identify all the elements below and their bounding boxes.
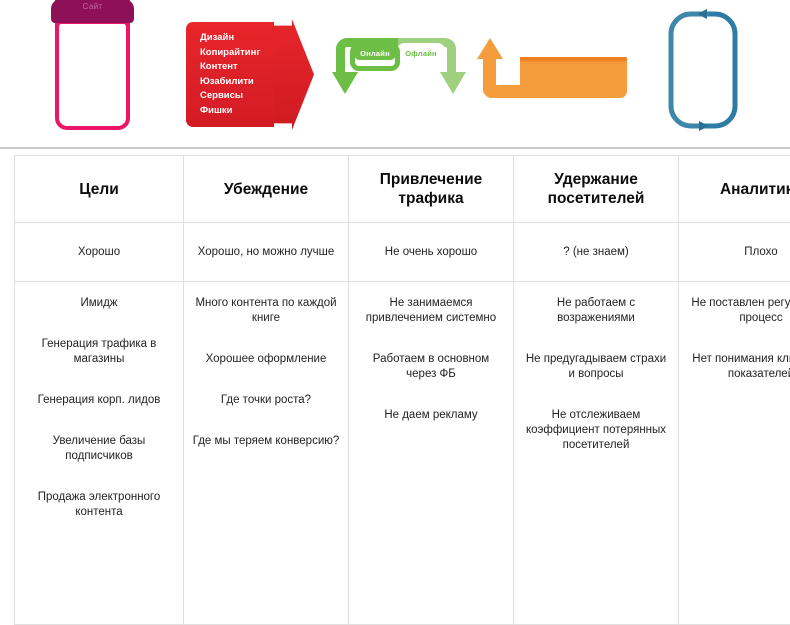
- conversion-bar: [520, 57, 627, 98]
- column-header-persuasion: Убеждение: [184, 156, 349, 223]
- detail-item: Увеличение базы подписчиков: [23, 434, 175, 464]
- table-row-details: Имидж Генерация трафика в магазины Генер…: [15, 282, 790, 625]
- summary-cell-persuasion: Хорошо, но можно лучше: [184, 223, 349, 282]
- retention-cycle-loop-icon: [667, 8, 739, 132]
- channel-arrow-down-right-icon: [440, 72, 466, 94]
- summary-cell-goals: Хорошо: [15, 223, 184, 282]
- summary-cell-analytics: Плохо: [679, 223, 790, 282]
- audit-matrix-table: Цели Убеждение Привлечение трафика Удерж…: [14, 155, 790, 625]
- detail-item: Генерация корп. лидов: [23, 393, 175, 408]
- detail-item: Не поставлен регулярный процесс: [687, 296, 790, 326]
- column-header-traffic: Привлечение трафика: [349, 156, 514, 223]
- detail-item: Работаем в основном через ФБ: [357, 352, 505, 382]
- detail-item: Не предугадываем страхи и вопросы: [522, 352, 670, 382]
- table-row-summary: Хорошо Хорошо, но можно лучше Не очень х…: [15, 223, 790, 282]
- service-item: Дизайн: [200, 31, 290, 46]
- details-cell-persuasion: Много контента по каждой книге Хорошее о…: [184, 282, 349, 625]
- detail-item: Не работаем с возражениями: [522, 296, 670, 326]
- detail-item: Не занимаемся привлечением системно: [357, 296, 505, 326]
- column-header-retention: Удержание посетителей: [514, 156, 679, 223]
- details-cell-goals: Имидж Генерация трафика в магазины Генер…: [15, 282, 184, 625]
- column-header-analytics: Аналитика: [679, 156, 790, 223]
- conversion-arrow-stem: [483, 57, 531, 98]
- column-header-goals: Цели: [15, 156, 184, 223]
- section-divider: [0, 147, 790, 149]
- detail-item: Имидж: [23, 296, 175, 311]
- detail-item: Где мы теряем конверсию?: [192, 434, 340, 449]
- detail-item: Продажа электронного контента: [23, 490, 175, 520]
- service-item: Копирайтинг: [200, 46, 290, 61]
- detail-item: Хорошее оформление: [192, 352, 340, 367]
- conversion-arrow-up-icon: [477, 38, 503, 59]
- services-list: Дизайн Копирайтинг Контент Юзабилити Сер…: [200, 31, 290, 118]
- summary-cell-traffic: Не очень хорошо: [349, 223, 514, 282]
- detail-item: Много контента по каждой книге: [192, 296, 340, 326]
- details-cell-traffic: Не занимаемся привлечением системно Рабо…: [349, 282, 514, 625]
- conversion-bar-highlight: [520, 57, 627, 61]
- details-cell-analytics: Не поставлен регулярный процесс Нет пони…: [679, 282, 790, 625]
- services-arrow: Дизайн Копирайтинг Контент Юзабилити Сер…: [186, 22, 314, 127]
- conversion-arrow-group: [483, 38, 628, 98]
- site-device-label: Сайт: [83, 2, 103, 11]
- detail-item: Нет понимания ключевых показателей: [687, 352, 790, 382]
- service-item: Сервисы: [200, 89, 290, 104]
- site-device-header: Сайт: [51, 0, 134, 23]
- service-item: Юзабилити: [200, 75, 290, 90]
- channel-offline-label: Офлайн: [400, 47, 442, 60]
- channels-group: Онлайн Офлайн: [326, 38, 466, 100]
- summary-cell-retention: ? (не знаем): [514, 223, 679, 282]
- table-header-row: Цели Убеждение Привлечение трафика Удерж…: [15, 156, 790, 223]
- detail-item: Не отслеживаем коэффициент потерянных по…: [522, 408, 670, 453]
- channel-arrow-down-left-icon: [332, 72, 358, 94]
- service-item: Контент: [200, 60, 290, 75]
- detail-item: Не даем рекламу: [357, 408, 505, 423]
- detail-item: Где точки роста?: [192, 393, 340, 408]
- service-item: Фишки: [200, 104, 290, 119]
- details-cell-retention: Не работаем с возражениями Не предугадыв…: [514, 282, 679, 625]
- funnel-diagram: Сайт Дизайн Копирайтинг Контент Юзабилит…: [0, 0, 790, 148]
- channel-online-label: Онлайн: [354, 47, 396, 60]
- audit-matrix-container: Цели Убеждение Привлечение трафика Удерж…: [14, 155, 778, 625]
- detail-item: Генерация трафика в магазины: [23, 337, 175, 367]
